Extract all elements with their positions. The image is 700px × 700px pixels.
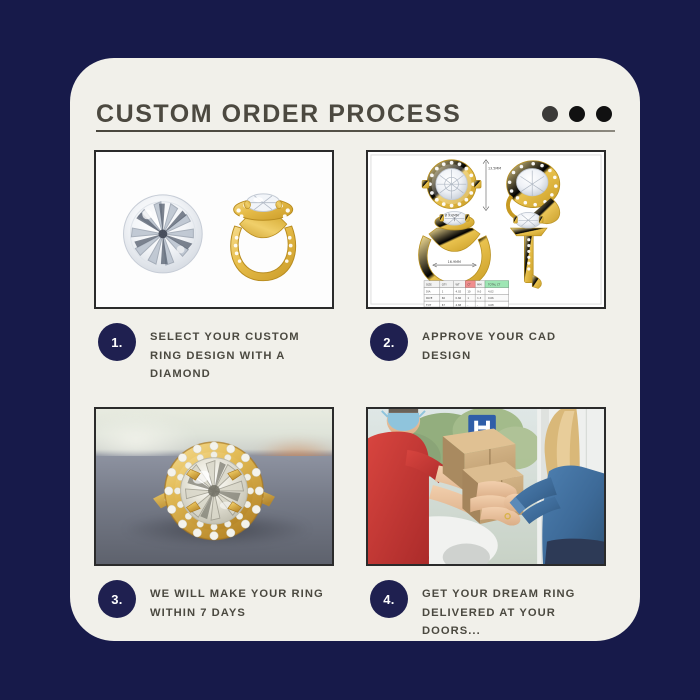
- step-4-text: GET YOUR DREAM RING DELIVERED AT YOUR DO…: [422, 580, 606, 641]
- svg-text:4.02: 4.02: [456, 289, 462, 293]
- header-divider: [96, 130, 615, 132]
- step-card-4[interactable]: 4. GET YOUR DREAM RING DELIVERED AT YOUR…: [366, 407, 606, 650]
- svg-text:4.02: 4.02: [488, 289, 494, 293]
- card-header: CUSTOM ORDER PROCESS: [96, 82, 614, 156]
- svg-text:Ø 9.0MM: Ø 9.0MM: [445, 212, 459, 217]
- window-dot-icon-1[interactable]: [542, 106, 558, 122]
- cad-design-sheet: 13.5MM: [368, 152, 604, 307]
- package-delivery-photo: [368, 409, 604, 564]
- svg-text:CT: CT: [467, 283, 471, 287]
- steps-grid: 1. SELECT YOUR CUSTOM RING DESIGN WITH A…: [94, 150, 616, 650]
- svg-text:0.66: 0.66: [456, 296, 462, 300]
- step-card-2[interactable]: 13.5MM: [366, 150, 606, 393]
- svg-text:-: -: [477, 304, 478, 307]
- step-2-caption: 2. APPROVE YOUR CAD DESIGN: [366, 309, 606, 393]
- cad-sheet-illustration: 13.5MM: [368, 152, 604, 307]
- step-2-image-frame: 13.5MM: [366, 150, 606, 309]
- svg-text:PAVE: PAVE: [426, 296, 433, 300]
- svg-text:66: 66: [442, 296, 446, 300]
- svg-text:DIA: DIA: [426, 289, 431, 293]
- svg-text:1.3: 1.3: [477, 296, 481, 300]
- finished-ring-photo: [96, 409, 332, 564]
- diamond-ring-illustration: [96, 152, 332, 307]
- svg-text:SIZE: SIZE: [426, 283, 432, 287]
- delivery-illustration: [368, 409, 604, 564]
- step-1-badge: 1.: [98, 323, 136, 361]
- svg-text:QTY: QTY: [442, 283, 448, 287]
- step-3-text: WE WILL MAKE YOUR RING WITHIN 7 DAYS: [150, 580, 334, 622]
- step-3-image-frame: [94, 407, 334, 566]
- svg-text:-: -: [467, 304, 468, 307]
- window-dot-icon-2[interactable]: [569, 106, 585, 122]
- step-4-badge: 4.: [370, 580, 408, 618]
- finished-ring-illustration: [96, 409, 332, 564]
- svg-text:13.5MM: 13.5MM: [488, 167, 501, 171]
- svg-text:9.0: 9.0: [477, 289, 481, 293]
- svg-text:16.9MM: 16.9MM: [448, 260, 461, 264]
- loose-diamond-and-gold-ring-photo: [96, 152, 332, 307]
- step-card-1[interactable]: 1. SELECT YOUR CUSTOM RING DESIGN WITH A…: [94, 150, 334, 393]
- step-1-image-frame: [94, 150, 334, 309]
- step-2-text: APPROVE YOUR CAD DESIGN: [422, 323, 606, 365]
- step-4-image-frame: [366, 407, 606, 566]
- svg-text:10: 10: [467, 289, 471, 293]
- window-dot-icon-3[interactable]: [596, 106, 612, 122]
- window-dots: [542, 106, 612, 122]
- step-card-3[interactable]: 3. WE WILL MAKE YOUR RING WITHIN 7 DAYS: [94, 407, 334, 650]
- svg-text:WT: WT: [456, 283, 461, 287]
- step-1-caption: 1. SELECT YOUR CUSTOM RING DESIGN WITH A…: [94, 309, 334, 393]
- svg-text:TOTAL CT: TOTAL CT: [488, 283, 501, 287]
- step-1-text: SELECT YOUR CUSTOM RING DESIGN WITH A DI…: [150, 323, 334, 384]
- svg-text:0.66: 0.66: [488, 296, 494, 300]
- page-title: CUSTOM ORDER PROCESS: [96, 100, 461, 129]
- svg-text:67: 67: [442, 303, 446, 307]
- svg-text:TOT: TOT: [426, 303, 432, 307]
- svg-text:4.68: 4.68: [488, 303, 494, 307]
- step-3-badge: 3.: [98, 580, 136, 618]
- step-4-caption: 4. GET YOUR DREAM RING DELIVERED AT YOUR…: [366, 566, 606, 650]
- svg-text:MM: MM: [477, 283, 481, 287]
- step-2-badge: 2.: [370, 323, 408, 361]
- step-3-caption: 3. WE WILL MAKE YOUR RING WITHIN 7 DAYS: [94, 566, 334, 650]
- svg-text:4.68: 4.68: [456, 303, 462, 307]
- cad-spec-table: SIZEQTY WTCT MMTOTAL CT DIA1 4.0210 9.04…: [424, 281, 509, 307]
- infographic-card: CUSTOM ORDER PROCESS: [70, 58, 640, 641]
